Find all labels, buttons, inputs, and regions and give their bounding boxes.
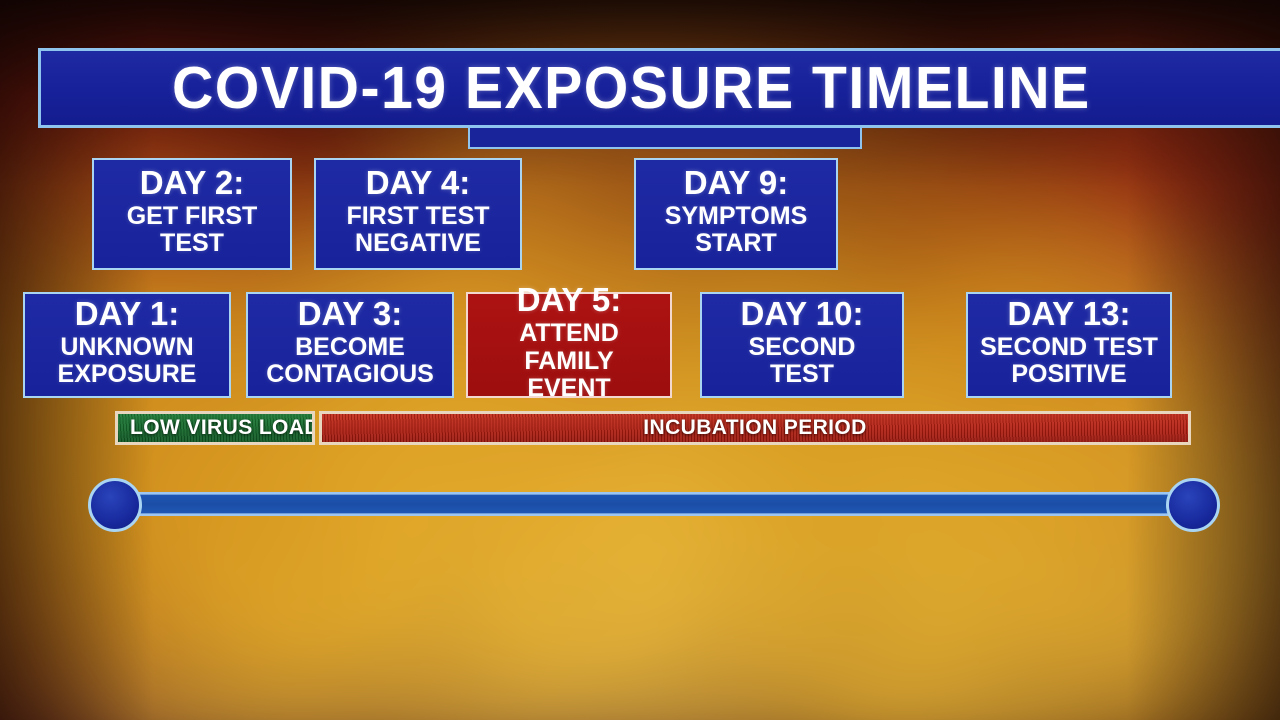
timeline-track: [118, 492, 1190, 516]
timeline-card-4[interactable]: DAY 4:FIRST TESTNEGATIVE: [314, 158, 522, 270]
timeline-card-13[interactable]: DAY 13:SECOND TESTPOSITIVE: [966, 292, 1172, 398]
timeline-card-2[interactable]: DAY 2:GET FIRSTTEST: [92, 158, 292, 270]
title-banner-stub: [468, 128, 862, 149]
timeline-start-marker: [88, 478, 142, 532]
card-description: UNKNOWNEXPOSURE: [58, 334, 197, 390]
timeline-card-9[interactable]: DAY 9:SYMPTOMSSTART: [634, 158, 838, 270]
timeline-card-5[interactable]: DAY 5:ATTEND FAMILYEVENT: [466, 292, 672, 398]
card-day-label: DAY 4:: [366, 166, 471, 201]
card-day-label: DAY 2:: [140, 166, 245, 201]
title-banner: COVID-19 EXPOSURE TIMELINE: [38, 48, 1280, 128]
phase-bar-label: INCUBATION PERIOD: [322, 416, 1188, 440]
timeline-card-10[interactable]: DAY 10:SECONDTEST: [700, 292, 904, 398]
card-day-label: DAY 1:: [75, 297, 180, 332]
card-day-label: DAY 13:: [1008, 297, 1131, 332]
card-description: SYMPTOMSSTART: [665, 203, 808, 259]
card-description: SECONDTEST: [749, 334, 856, 390]
card-day-label: DAY 3:: [298, 297, 403, 332]
card-description: FIRST TESTNEGATIVE: [346, 203, 489, 259]
phase-bar-incubation-period: INCUBATION PERIOD: [319, 411, 1191, 445]
card-description: ATTEND FAMILYEVENT: [474, 320, 664, 403]
card-day-label: DAY 9:: [684, 166, 789, 201]
phase-bar-label: LOW VIRUS LOAD: [118, 416, 312, 440]
timeline-end-marker: [1166, 478, 1220, 532]
card-description: SECOND TESTPOSITIVE: [980, 334, 1158, 390]
timeline-card-1[interactable]: DAY 1:UNKNOWNEXPOSURE: [23, 292, 231, 398]
card-day-label: DAY 5:: [517, 283, 622, 318]
phase-bar-low-virus-load: LOW VIRUS LOAD: [115, 411, 315, 445]
card-description: BECOMECONTAGIOUS: [266, 334, 434, 390]
card-day-label: DAY 10:: [741, 297, 864, 332]
timeline-card-3[interactable]: DAY 3:BECOMECONTAGIOUS: [246, 292, 454, 398]
card-description: GET FIRSTTEST: [127, 203, 258, 259]
page-title: COVID-19 EXPOSURE TIMELINE: [41, 54, 1091, 122]
